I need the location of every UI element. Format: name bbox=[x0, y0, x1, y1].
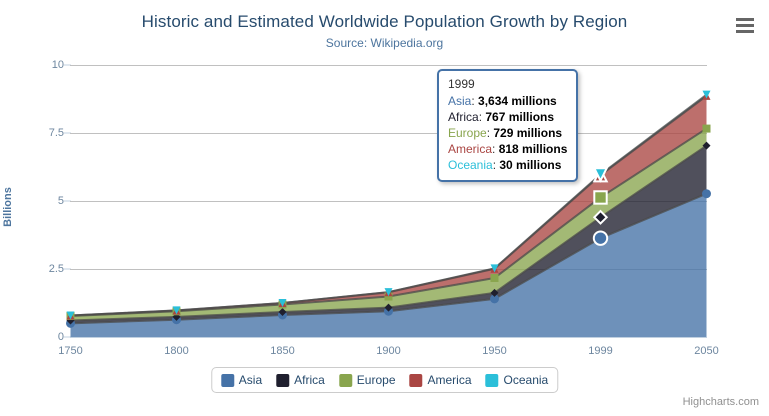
plot-area bbox=[70, 65, 707, 337]
legend-label: America bbox=[428, 373, 472, 387]
legend-label: Europe bbox=[357, 373, 396, 387]
hamburger-bar bbox=[736, 18, 754, 21]
legend-swatch-icon bbox=[276, 374, 289, 387]
legend-label: Asia bbox=[239, 373, 262, 387]
highcharts-container: Historic and Estimated Worldwide Populat… bbox=[0, 0, 769, 416]
legend-swatch-icon bbox=[221, 374, 234, 387]
x-axis-tick-label: 1850 bbox=[270, 345, 294, 357]
hamburger-bar bbox=[736, 24, 754, 27]
legend-swatch-icon bbox=[486, 374, 499, 387]
point-marker-europe[interactable] bbox=[703, 125, 711, 133]
point-marker-europe[interactable] bbox=[491, 274, 499, 282]
legend-item-oceania[interactable]: Oceania bbox=[486, 373, 549, 387]
legend-item-europe[interactable]: Europe bbox=[339, 373, 396, 387]
x-axis-tick-label: 1999 bbox=[588, 345, 612, 357]
y-axis-tick-label: 0 bbox=[14, 331, 64, 343]
legend-swatch-icon bbox=[339, 374, 352, 387]
x-axis-tick-label: 1750 bbox=[58, 345, 82, 357]
x-axis-tick-label: 2050 bbox=[694, 345, 718, 357]
chart-title: Historic and Estimated Worldwide Populat… bbox=[0, 12, 769, 32]
legend-item-asia[interactable]: Asia bbox=[221, 373, 262, 387]
chart-subtitle: Source: Wikipedia.org bbox=[0, 36, 769, 50]
legend-swatch-icon bbox=[410, 374, 423, 387]
legend-item-america[interactable]: America bbox=[410, 373, 472, 387]
credits-label[interactable]: Highcharts.com bbox=[683, 396, 759, 408]
y-axis: 02.557.510 bbox=[6, 65, 64, 337]
point-marker-europe[interactable] bbox=[594, 191, 606, 203]
hamburger-bar bbox=[736, 30, 754, 33]
series-layer bbox=[70, 65, 707, 337]
legend-item-africa[interactable]: Africa bbox=[276, 373, 325, 387]
y-axis-tick-label: 2.5 bbox=[14, 263, 64, 275]
x-axis-tick-label: 1900 bbox=[376, 345, 400, 357]
legend-label: Africa bbox=[294, 373, 325, 387]
chart-legend[interactable]: AsiaAfricaEuropeAmericaOceania bbox=[211, 367, 558, 393]
y-axis-tick-label: 5 bbox=[14, 195, 64, 207]
x-axis: 1750180018501900195019992050 bbox=[70, 337, 707, 367]
x-axis-tick-label: 1950 bbox=[482, 345, 506, 357]
hamburger-menu-icon[interactable] bbox=[733, 14, 757, 36]
legend-label: Oceania bbox=[504, 373, 549, 387]
x-axis-line bbox=[70, 337, 707, 338]
y-axis-title: Billions bbox=[2, 187, 14, 227]
y-axis-tick-label: 7.5 bbox=[14, 127, 64, 139]
y-axis-tick-label: 10 bbox=[14, 59, 64, 71]
x-axis-tick-label: 1800 bbox=[164, 345, 188, 357]
point-marker-asia[interactable] bbox=[594, 231, 607, 244]
point-marker-asia[interactable] bbox=[702, 189, 711, 198]
